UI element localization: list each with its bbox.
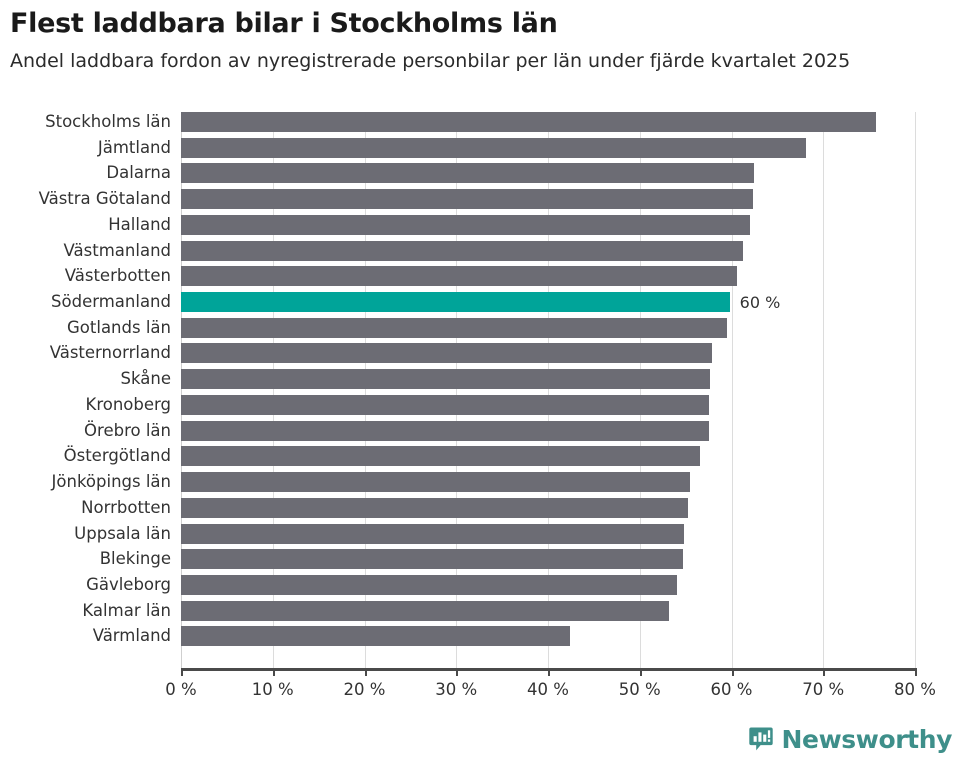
bar-gävleborg[interactable] <box>181 575 677 595</box>
bar-row[interactable] <box>181 472 915 492</box>
chart-header: Flest laddbara bilar i Stockholms län An… <box>0 0 960 73</box>
y-axis-label-norrbotten: Norrbotten <box>0 498 171 518</box>
y-axis-label-blekinge: Blekinge <box>0 549 171 569</box>
x-axis-label-60: 60 % <box>711 680 753 699</box>
bar-östergötland[interactable] <box>181 446 700 466</box>
bar-row[interactable] <box>181 318 915 338</box>
bar-row[interactable] <box>181 421 915 441</box>
x-axis-label-0: 0 % <box>165 680 196 699</box>
bar-row[interactable] <box>181 626 915 646</box>
x-axis-tick-30 <box>456 668 458 676</box>
y-axis-label-värmland: Värmland <box>0 626 171 646</box>
x-axis-tick-40 <box>548 668 550 676</box>
bar-value-label: 60 % <box>740 293 781 312</box>
page-title: Flest laddbara bilar i Stockholms län <box>10 8 950 39</box>
bar-row[interactable] <box>181 601 915 621</box>
bar-row[interactable] <box>181 215 915 235</box>
y-axis-label-gävleborg: Gävleborg <box>0 575 171 595</box>
bar-row[interactable] <box>181 498 915 518</box>
x-axis-label-30: 30 % <box>435 680 477 699</box>
bar-row[interactable] <box>181 446 915 466</box>
bar-blekinge[interactable] <box>181 549 683 569</box>
y-axis-label-stockholms-län: Stockholms län <box>0 112 171 132</box>
y-axis-label-södermanland: Södermanland <box>0 292 171 312</box>
y-axis-label-kronoberg: Kronoberg <box>0 395 171 415</box>
y-axis-label-kalmar-län: Kalmar län <box>0 601 171 621</box>
bar-uppsala-län[interactable] <box>181 524 684 544</box>
bar-row[interactable] <box>181 138 915 158</box>
bar-kalmar-län[interactable] <box>181 601 669 621</box>
x-axis-tick-10 <box>273 668 275 676</box>
bar-södermanland[interactable] <box>181 292 730 312</box>
bar-västra-götaland[interactable] <box>181 189 753 209</box>
y-axis-label-västerbotten: Västerbotten <box>0 266 171 286</box>
bar-västerbotten[interactable] <box>181 266 737 286</box>
x-axis-label-40: 40 % <box>527 680 569 699</box>
bar-halland[interactable] <box>181 215 750 235</box>
gridline-80 <box>915 112 916 668</box>
plot-area: 60 % <box>181 112 915 668</box>
bar-västmanland[interactable] <box>181 241 743 261</box>
x-axis-label-10: 10 % <box>252 680 294 699</box>
bar-värmland[interactable] <box>181 626 570 646</box>
bar-row[interactable] <box>181 369 915 389</box>
y-axis-label-västernorrland: Västernorrland <box>0 343 171 363</box>
bar-dalarna[interactable] <box>181 163 754 183</box>
x-axis-label-70: 70 % <box>802 680 844 699</box>
bar-row[interactable] <box>181 241 915 261</box>
bar-row[interactable] <box>181 549 915 569</box>
x-axis-tick-50 <box>640 668 642 676</box>
bar-gotlands-län[interactable] <box>181 318 727 338</box>
bar-row[interactable] <box>181 189 915 209</box>
y-axis-label-jönköpings-län: Jönköpings län <box>0 472 171 492</box>
bar-row[interactable] <box>181 266 915 286</box>
brand-name: Newsworthy <box>782 727 953 752</box>
bar-chart-speech-bubble-icon <box>748 726 774 752</box>
bar-row[interactable] <box>181 524 915 544</box>
x-axis-label-20: 20 % <box>344 680 386 699</box>
y-axis-label-gotlands-län: Gotlands län <box>0 318 171 338</box>
x-axis-tick-20 <box>365 668 367 676</box>
x-axis-tick-60 <box>732 668 734 676</box>
x-axis-label-50: 50 % <box>619 680 661 699</box>
x-axis-label-80: 80 % <box>894 680 936 699</box>
y-axis-label-jämtland: Jämtland <box>0 138 171 158</box>
bar-västernorrland[interactable] <box>181 343 712 363</box>
newsworthy-logo[interactable]: Newsworthy <box>748 726 953 752</box>
bar-row[interactable] <box>181 575 915 595</box>
bar-row[interactable] <box>181 343 915 363</box>
y-axis-label-västra-götaland: Västra Götaland <box>0 189 171 209</box>
bar-series: 60 % <box>181 112 915 668</box>
bar-chart: Stockholms länJämtlandDalarnaVästra Göta… <box>0 100 960 700</box>
x-axis-tick-0 <box>181 668 183 676</box>
y-axis-label-dalarna: Dalarna <box>0 163 171 183</box>
y-axis-label-halland: Halland <box>0 215 171 235</box>
bar-jönköpings-län[interactable] <box>181 472 690 492</box>
x-axis-tick-70 <box>823 668 825 676</box>
y-axis-label-östergötland: Östergötland <box>0 446 171 466</box>
bar-row[interactable] <box>181 163 915 183</box>
y-axis-label-skåne: Skåne <box>0 369 171 389</box>
bar-row[interactable] <box>181 112 915 132</box>
bar-skåne[interactable] <box>181 369 710 389</box>
bar-jämtland[interactable] <box>181 138 806 158</box>
bar-norrbotten[interactable] <box>181 498 688 518</box>
bar-stockholms-län[interactable] <box>181 112 876 132</box>
y-axis-label-örebro-län: Örebro län <box>0 421 171 441</box>
y-axis-labels: Stockholms länJämtlandDalarnaVästra Göta… <box>0 112 171 668</box>
chart-subtitle: Andel laddbara fordon av nyregistrerade … <box>10 50 950 73</box>
y-axis-label-uppsala-län: Uppsala län <box>0 524 171 544</box>
y-axis-label-västmanland: Västmanland <box>0 241 171 261</box>
bar-row[interactable]: 60 % <box>181 292 915 312</box>
bar-örebro-län[interactable] <box>181 421 709 441</box>
x-axis-tick-80 <box>915 668 917 676</box>
bar-row[interactable] <box>181 395 915 415</box>
bar-kronoberg[interactable] <box>181 395 709 415</box>
